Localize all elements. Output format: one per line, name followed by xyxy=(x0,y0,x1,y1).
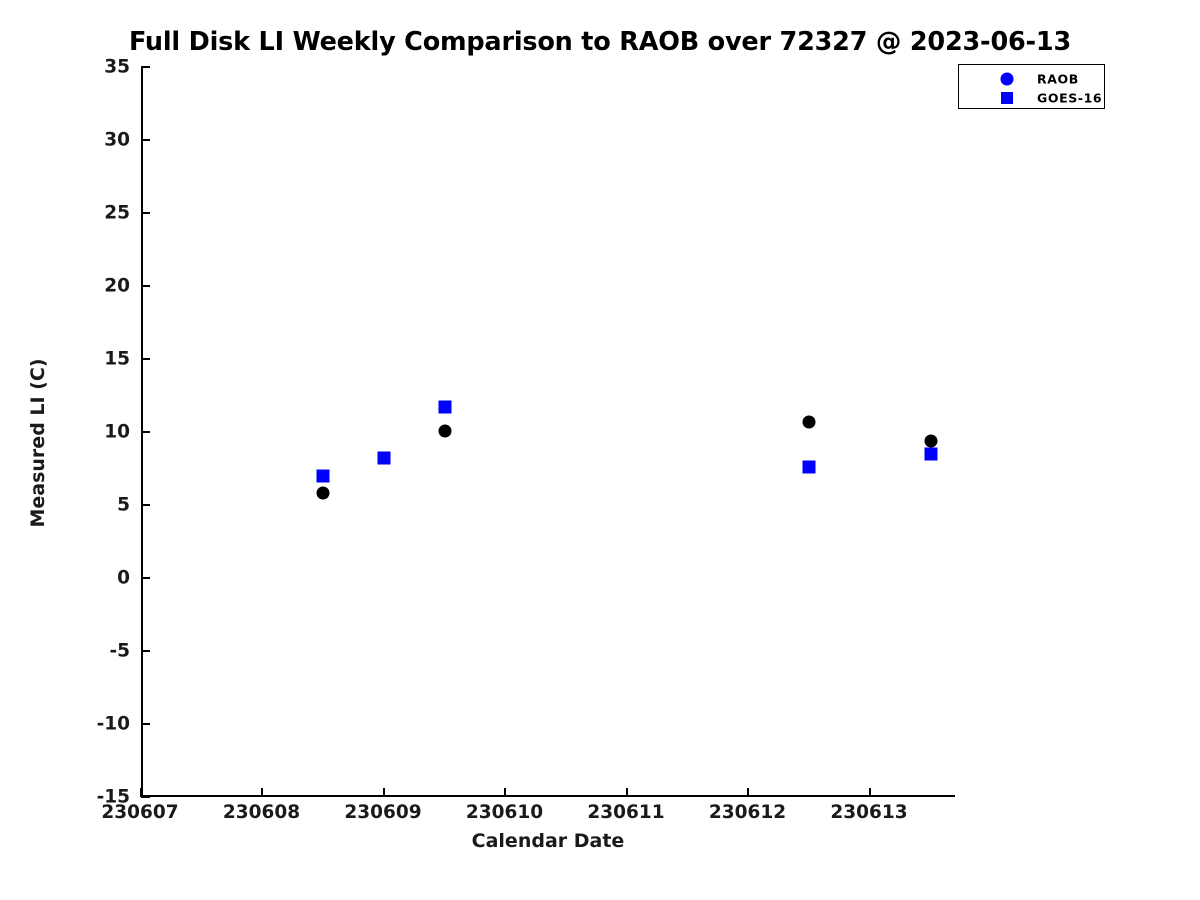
legend-square-icon xyxy=(1001,92,1013,104)
y-tick-label: -10 xyxy=(97,714,130,735)
legend-label-goes16: GOES-16 xyxy=(1037,90,1102,105)
x-axis-label: Calendar Date xyxy=(141,830,955,852)
y-tick: 10 xyxy=(141,431,150,433)
x-tick: 230613 xyxy=(869,788,871,797)
y-tick-label: 20 xyxy=(104,276,130,297)
x-tick: 230611 xyxy=(626,788,628,797)
data-point-goes-16 xyxy=(377,452,390,465)
y-tick: 25 xyxy=(141,212,150,214)
y-tick: -10 xyxy=(141,723,150,725)
y-axis-label: Measured LI (C) xyxy=(27,163,49,723)
y-tick-label: 30 xyxy=(104,130,130,151)
data-point-raob xyxy=(438,424,451,437)
x-tick: 230608 xyxy=(261,788,263,797)
x-tick-label: 230610 xyxy=(466,802,543,823)
x-tick-label: 230612 xyxy=(709,802,786,823)
data-point-goes-16 xyxy=(924,447,937,460)
y-tick: -15 xyxy=(141,796,150,798)
legend-label-raob: RAOB xyxy=(1037,71,1079,86)
x-tick: 230607 xyxy=(140,788,142,797)
data-point-raob xyxy=(924,434,937,447)
y-tick-label: 5 xyxy=(117,495,130,516)
y-tick-label: 10 xyxy=(104,422,130,443)
x-tick: 230612 xyxy=(747,788,749,797)
y-tick-label: 0 xyxy=(117,568,130,589)
y-tick: 35 xyxy=(141,66,150,68)
page-title: Full Disk LI Weekly Comparison to RAOB o… xyxy=(0,27,1200,57)
plot-area: -15-10-505101520253035 23060723060823060… xyxy=(141,67,955,797)
y-tick: 15 xyxy=(141,358,150,360)
y-tick-label: 25 xyxy=(104,203,130,224)
data-point-goes-16 xyxy=(317,469,330,482)
data-point-goes-16 xyxy=(803,461,816,474)
legend-entry-goes16: GOES-16 xyxy=(959,88,1104,107)
x-tick-label: 230611 xyxy=(587,802,664,823)
x-tick: 230609 xyxy=(383,788,385,797)
y-tick: 20 xyxy=(141,285,150,287)
legend-circle-icon xyxy=(1001,72,1014,85)
chart-figure: Full Disk LI Weekly Comparison to RAOB o… xyxy=(0,0,1200,900)
y-tick: -5 xyxy=(141,650,150,652)
chart-legend: RAOB GOES-16 xyxy=(958,64,1105,109)
y-tick-label: 35 xyxy=(104,57,130,78)
legend-entry-raob: RAOB xyxy=(959,69,1104,88)
x-tick-label: 230613 xyxy=(830,802,907,823)
x-tick-label: 230609 xyxy=(344,802,421,823)
x-tick-label: 230608 xyxy=(223,802,300,823)
y-tick: 0 xyxy=(141,577,150,579)
y-tick-label: 15 xyxy=(104,349,130,370)
x-tick: 230610 xyxy=(504,788,506,797)
y-tick-label: -5 xyxy=(109,641,130,662)
y-tick: 5 xyxy=(141,504,150,506)
y-tick: 30 xyxy=(141,139,150,141)
data-point-goes-16 xyxy=(438,401,451,414)
data-point-raob xyxy=(317,487,330,500)
x-tick-label: 230607 xyxy=(101,802,178,823)
data-point-raob xyxy=(803,415,816,428)
